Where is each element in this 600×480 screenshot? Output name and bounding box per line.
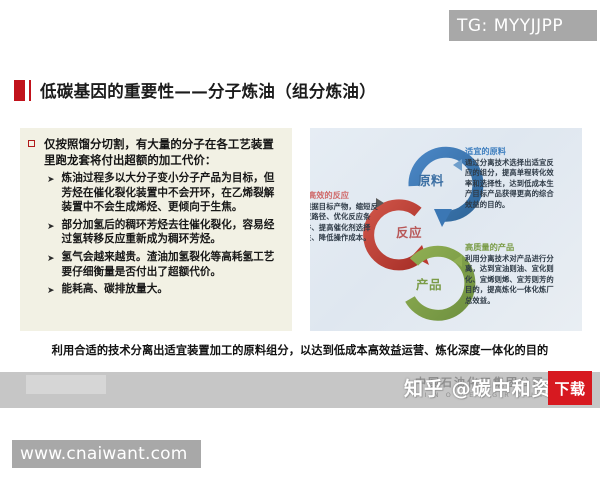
title-accent-block: [14, 80, 25, 101]
list-item: ➤ 氢气会越来越贵。渣油加氢裂化等高耗氢工艺要仔细衡量是否付出了超额代价。: [47, 250, 284, 279]
annotation-feedstock: 适宜的原料 通过分离技术选择出适宜反应的组分，提高单程转化效率和选择性，达到低成…: [465, 146, 555, 210]
download-button[interactable]: 下载: [548, 371, 592, 405]
bullet-level2-text: 炼油过程多以大分子变小分子产品为目标，但芳烃在催化裂化装置中不会开环，在乙烯裂解…: [62, 171, 284, 215]
telegram-watermark: TG: MYYJJPP: [449, 10, 597, 41]
bullet-level2-text: 能耗高、碳排放量大。: [62, 282, 168, 297]
annotation-product-body: 利用分离技术对产品进行分离，达到宜油则油、宜化则化、宜烯则烯、宜芳则芳的目的，提…: [465, 254, 557, 306]
arrow-bullet-icon: ➤: [47, 284, 55, 298]
bullet-level1-text: 仅按照馏分切割，有大量的分子在各工艺装置里跑龙套将付出超额的加工代价：: [44, 136, 284, 168]
list-item: ➤ 部分加氢后的稠环芳烃去往催化裂化，容易经过氢转移反应重新成为稠环芳烃。: [47, 218, 284, 247]
bullet-level2-text: 部分加氢后的稠环芳烃去往催化裂化，容易经过氢转移反应重新成为稠环芳烃。: [62, 218, 284, 247]
bullet-level1: 仅按照馏分切割，有大量的分子在各工艺装置里跑龙套将付出超额的加工代价：: [28, 136, 284, 168]
bullet-level2-text: 氢气会越来越贵。渣油加氢裂化等高耗氢工艺要仔细衡量是否付出了超额代价。: [62, 250, 284, 279]
site-watermark: www.cnaiwant.com: [12, 440, 201, 468]
ring-label-reaction: 反应: [396, 222, 422, 241]
annotation-product: 高质量的产品 利用分离技术对产品进行分离，达到宜油则油、宜化则化、宜烯则烯、宜芳…: [465, 242, 557, 306]
title-accent-bar: [29, 80, 31, 101]
annotation-reaction-body: 根据目标产物，缩短反应路径、优化反应条件、提高催化剂选择性、降低操作成本。: [310, 202, 378, 244]
footer-band-notch: [26, 375, 106, 394]
list-item: ➤ 能耗高、碳排放量大。: [47, 282, 284, 298]
annotation-product-title: 高质量的产品: [465, 242, 557, 253]
anno-pointer-blue: [453, 159, 462, 171]
annotation-feedstock-title: 适宜的原料: [465, 146, 555, 157]
arrow-bullet-icon: ➤: [47, 252, 55, 266]
arrow-bullet-icon: ➤: [47, 173, 55, 187]
cycle-diagram: 原料 反应 产品 适宜的原料 通过分离技术选择出适宜反应的组分，提高单程转化效率…: [310, 128, 582, 331]
slide-canvas: 低碳基因的重要性——分子炼油（组分炼油） 仅按照馏分切割，有大量的分子在各工艺装…: [0, 50, 600, 408]
list-item: ➤ 炼油过程多以大分子变小分子产品为目标，但芳烃在催化裂化装置中不会开环，在乙烯…: [47, 171, 284, 215]
bullet-level2-list: ➤ 炼油过程多以大分子变小分子产品为目标，但芳烃在催化裂化装置中不会开环，在乙烯…: [47, 171, 284, 298]
slide-caption: 利用合适的技术分离出适宜装置加工的原料组分，以达到低成本高效益运营、炼化深度一体…: [0, 342, 600, 358]
annotation-reaction: 高效的反应 根据目标产物，缩短反应路径、优化反应条件、提高催化剂选择性、降低操作…: [310, 190, 378, 244]
annotation-feedstock-body: 通过分离技术选择出适宜反应的组分，提高单程转化效率和选择性，达到低成本生产目标产…: [465, 158, 555, 210]
arrow-bullet-icon: ➤: [47, 220, 55, 234]
bullet-panel: 仅按照馏分切割，有大量的分子在各工艺装置里跑龙套将付出超额的加工代价： ➤ 炼油…: [20, 128, 292, 331]
slide-title-row: 低碳基因的重要性——分子炼油（组分炼油）: [14, 78, 376, 102]
ring-label-product: 产品: [416, 274, 442, 293]
page-title: 低碳基因的重要性——分子炼油（组分炼油）: [40, 78, 376, 102]
slide-body: 仅按照馏分切割，有大量的分子在各工艺装置里跑龙套将付出超额的加工代价： ➤ 炼油…: [0, 128, 600, 338]
ring-label-feedstock: 原料: [418, 170, 444, 189]
annotation-reaction-title: 高效的反应: [310, 190, 378, 201]
zhihu-watermark: 知乎 @碳中和资料: [404, 374, 572, 401]
square-bullet-icon: [28, 140, 35, 147]
